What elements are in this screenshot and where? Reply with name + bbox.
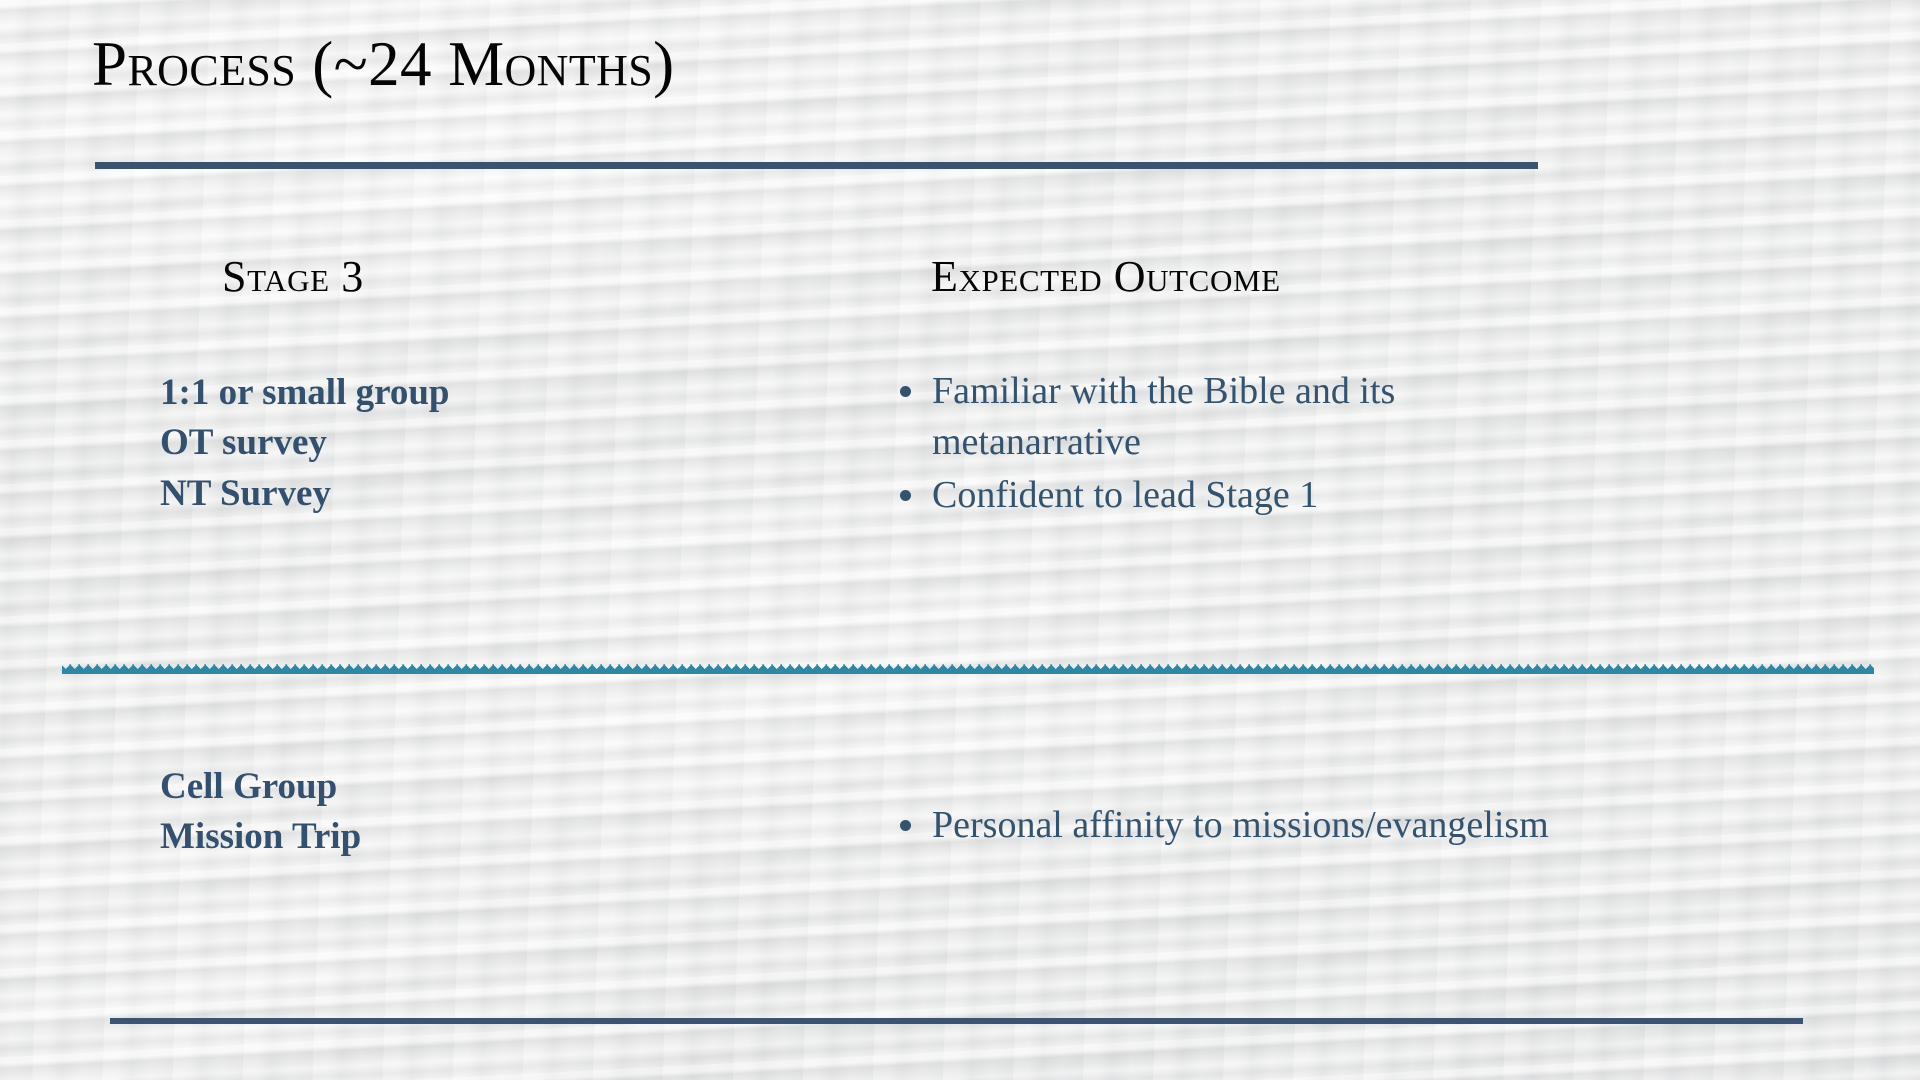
- text-line: 1:1 or small group: [160, 368, 450, 418]
- bullet-dot-icon: [900, 386, 911, 397]
- upper-right-bullet-list: Familiar with the Bible and its metanarr…: [894, 366, 1594, 523]
- title-divider-rule: [95, 162, 1538, 169]
- column-heading-stage: Stage 3: [222, 253, 364, 301]
- lower-left-text-block: Cell Group Mission Trip: [160, 762, 361, 863]
- list-item: Familiar with the Bible and its metanarr…: [894, 366, 1594, 468]
- list-item-label: Familiar with the Bible and its metanarr…: [932, 370, 1395, 463]
- lower-right-bullet-list: Personal affinity to missions/evangelism: [894, 800, 1694, 853]
- list-item: Personal affinity to missions/evangelism: [894, 800, 1694, 851]
- page-title: Process (~24 Months): [92, 31, 675, 97]
- text-line: Cell Group: [160, 762, 361, 812]
- footer-divider-rule: [110, 1018, 1803, 1024]
- list-item-label: Personal affinity to missions/evangelism: [932, 804, 1549, 846]
- text-line: OT survey: [160, 418, 450, 468]
- slide: Process (~24 Months) Stage 3 Expected Ou…: [0, 0, 1920, 1080]
- list-item-label: Confident to lead Stage 1: [932, 474, 1318, 516]
- list-item: Confident to lead Stage 1: [894, 470, 1594, 521]
- text-line: Mission Trip: [160, 812, 361, 862]
- column-heading-expected-outcome: Expected Outcome: [931, 253, 1281, 301]
- bullet-dot-icon: [900, 820, 911, 831]
- bullet-dot-icon: [900, 490, 911, 501]
- triangle-section-divider: [62, 660, 1874, 674]
- text-line: NT Survey: [160, 469, 450, 519]
- upper-left-text-block: 1:1 or small group OT survey NT Survey: [160, 368, 450, 519]
